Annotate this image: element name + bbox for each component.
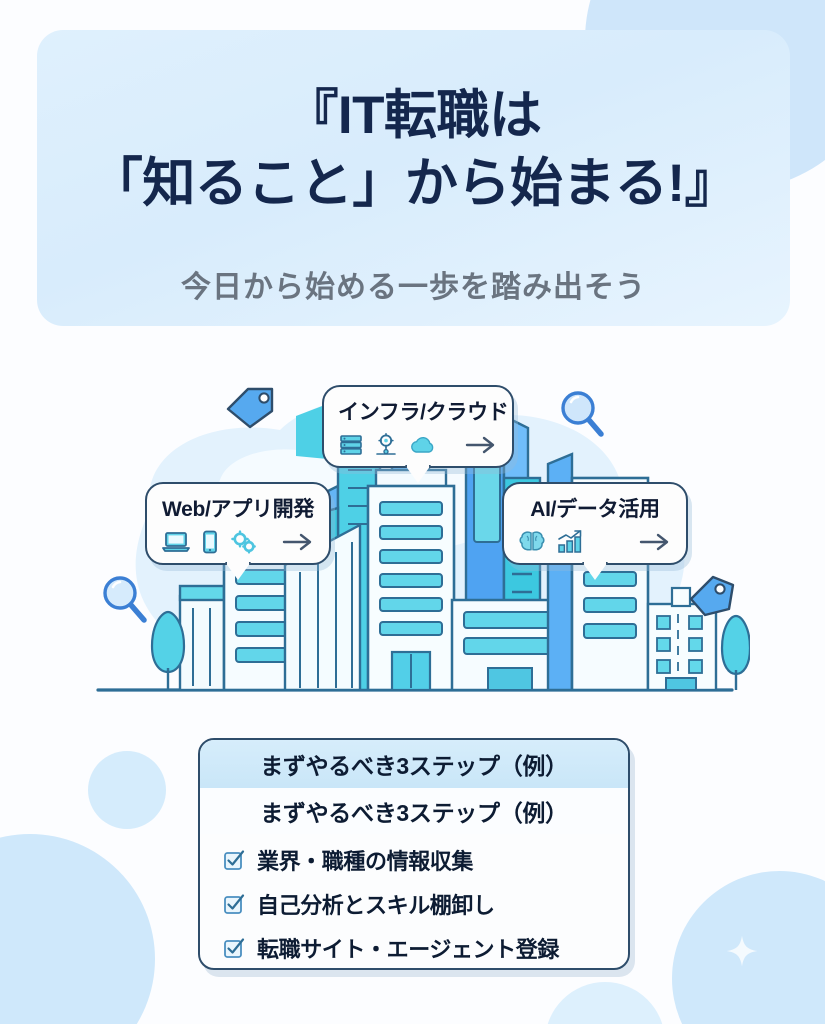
- list-item[interactable]: 転職サイト・エージェント登録: [222, 926, 628, 970]
- step-label: 業界・職種の情報収集: [257, 844, 473, 876]
- step-label: 自己分析とスキル棚卸し: [257, 888, 495, 920]
- tag-icon: [222, 383, 278, 429]
- gears-icon: [229, 529, 259, 555]
- title-line-1: 『IT転職は: [37, 82, 790, 150]
- checkbox-checked-icon[interactable]: [222, 892, 246, 916]
- arrow-right-icon: [464, 434, 498, 456]
- steps-card-subheader: まずやるべき3ステップ（例）: [200, 788, 628, 834]
- bubble-label: インフラ/クラウド: [338, 396, 498, 426]
- background-circle-bottom-left: [0, 834, 155, 1024]
- background-circle-small-left: [88, 751, 166, 829]
- arrow-right-icon: [638, 531, 672, 553]
- background-circle-bottom-center: [545, 982, 665, 1024]
- header-panel: 『IT転職は 「知ること」から始まる!』 今日から始める一歩を踏み出そう: [37, 30, 790, 326]
- steps-card: まずやるべき3ステップ（例） まずやるべき3ステップ（例） 業界・職種の情報収集…: [198, 738, 630, 970]
- server-icon: [338, 432, 364, 458]
- checkbox-checked-icon[interactable]: [222, 936, 246, 960]
- steps-card-header: まずやるべき3ステップ（例）: [200, 740, 628, 788]
- bar-chart-trend-icon: [555, 529, 585, 555]
- gear-network-icon: [373, 432, 399, 458]
- infographic-page: 『IT転職は 「知ること」から始まる!』 今日から始める一歩を踏み出そう: [0, 0, 825, 1024]
- bubble-label: Web/アプリ開発: [161, 493, 315, 523]
- bubble-infra-cloud[interactable]: インフラ/クラウド: [322, 385, 514, 468]
- title-line-2: 「知ること」から始まる!』: [37, 150, 790, 218]
- laptop-icon: [161, 529, 191, 555]
- page-subtitle: 今日から始める一歩を踏み出そう: [37, 262, 790, 306]
- steps-card-header-label: まずやるべき3ステップ（例）: [260, 747, 568, 781]
- steps-card-subheader-label: まずやるべき3ステップ（例）: [260, 794, 568, 828]
- tag-icon: [683, 571, 739, 619]
- bubble-web-app-dev[interactable]: Web/アプリ開発: [145, 482, 331, 565]
- checkbox-checked-icon[interactable]: [222, 848, 246, 872]
- magnifier-icon: [99, 573, 151, 629]
- page-title: 『IT転職は 「知ること」から始まる!』: [37, 82, 790, 218]
- tree-right: [722, 616, 750, 690]
- step-label: 転職サイト・エージェント登録: [257, 932, 559, 964]
- list-item[interactable]: 自己分析とスキル棚卸し: [222, 882, 628, 926]
- cloud-icon: [408, 432, 438, 458]
- steps-list: 業界・職種の情報収集 自己分析とスキル棚卸し 転職サイト・エージェント登録: [200, 834, 628, 970]
- sparkle-icon: [725, 934, 759, 968]
- bubble-label: AI/データ活用: [518, 493, 672, 523]
- arrow-right-icon: [281, 531, 315, 553]
- magnifier-icon: [556, 387, 608, 443]
- smartphone-icon: [200, 529, 220, 555]
- bubble-ai-data[interactable]: AI/データ活用: [502, 482, 688, 565]
- list-item[interactable]: 業界・職種の情報収集: [222, 838, 628, 882]
- brain-icon: [518, 529, 546, 555]
